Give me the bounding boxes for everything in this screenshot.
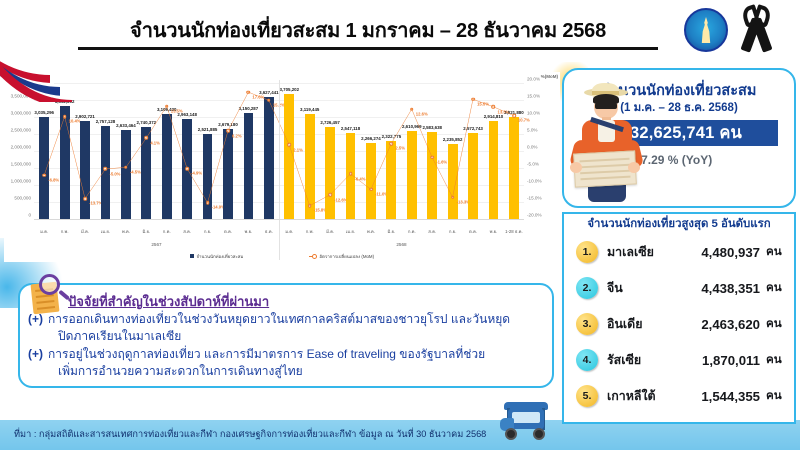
key-factor-text: การออกเดินทางท่องเที่ยวในช่วงวันหยุดยาวใ… [48, 311, 540, 345]
chart-x-tick-label: ก.พ. [299, 228, 319, 238]
top5-unit-label: คน [766, 351, 786, 369]
chart-y-tick-label: 2,500,000 [11, 128, 31, 133]
top5-row: 4.รัสเซีย1,870,011คน [570, 342, 786, 378]
chart-x-tick-label: ก.พ. [54, 228, 74, 238]
chart-x-tick-label: ธ.ค. [259, 228, 279, 238]
top5-country-name: จีน [598, 279, 662, 298]
chart-x-tick-label: มี.ค. [320, 228, 340, 238]
page-header: จำนวนนักท่องเที่ยวสะสม 1 มกราคม – 28 ธัน… [0, 0, 800, 62]
top5-unit-label: คน [766, 315, 786, 333]
key-factor-item: (+)การอยู่ในช่วงฤดูกาลท่องเที่ยว และการม… [28, 346, 540, 380]
top5-row: 2.จีน4,438,351คน [570, 270, 786, 306]
top5-country-name: รัสเซีย [598, 351, 662, 370]
chart-x-tick-label: พ.ค. [116, 228, 136, 238]
chart-x-tick-label: เม.ย. [95, 228, 115, 238]
chart-y-tick-label-right: 10.0% [527, 111, 540, 116]
key-factor-marker: (+) [28, 346, 48, 380]
chart-x-tick-label: ก.ค. [157, 228, 177, 238]
key-factors-title: ปัจจัยที่สำคัญในช่วงสัปดาห์ที่ผ่านมา [68, 291, 269, 312]
legend-swatch-square-icon [190, 254, 195, 259]
chart-y-tick-label: 1,000,000 [11, 179, 31, 184]
chart-x-tick-label: มิ.ย. [136, 228, 156, 238]
top5-title: จำนวนนักท่องเที่ยวสูงสุด 5 อันดับแรก [564, 215, 794, 233]
top5-country-name: เกาหลีใต้ [598, 387, 662, 406]
chart-y-tick-label: 3,000,000 [11, 111, 31, 116]
key-factor-text: การอยู่ในช่วงฤดูกาลท่องเที่ยว และการมีมา… [48, 346, 540, 380]
chart-x-tick-label: ม.ค. [34, 228, 54, 238]
legend-item-arrivals: จำนวนนักท่องเที่ยวสะสม [190, 253, 243, 260]
chart-legend: จำนวนนักท่องเที่ยวสะสม อัตราการเปลี่ยนแป… [4, 250, 560, 262]
chart-y-tick-label: 1,500,000 [11, 162, 31, 167]
page-title: จำนวนนักท่องเที่ยวสะสม 1 มกราคม – 28 ธัน… [78, 14, 658, 46]
top5-row: 1.มาเลเซีย4,480,937คน [570, 234, 786, 270]
top5-country-value: 1,544,355 [662, 389, 766, 404]
chart-x-tick-label: ก.ย. [442, 228, 462, 238]
black-mourning-ribbon-icon [740, 6, 774, 54]
key-factor-marker: (+) [28, 311, 48, 345]
top5-country-value: 1,870,011 [662, 353, 766, 368]
chart-x-tick-label: พ.ค. [361, 228, 381, 238]
chart-x-tick-label: ก.ย. [197, 228, 217, 238]
chart-y-tick-label: 2,000,000 [11, 145, 31, 150]
chart-x-tick-label: พ.ย. [483, 228, 503, 238]
chart-y-tick-label-right: 15.0% [527, 94, 540, 99]
top5-country-value: 2,463,620 [662, 317, 766, 332]
chart-y-tick-label-right: -15.0% [527, 196, 542, 201]
chart-x-tick-label: ต.ค. [218, 228, 238, 238]
chart-x-tick-label: มิ.ย. [381, 228, 401, 238]
chart-y-axis-right-title: %(MoM) [541, 74, 558, 79]
chart-y-tick-label: 0 [28, 213, 31, 218]
top5-country-name: มาเลเซีย [598, 243, 662, 262]
chart-y-tick-label-right: -20.0% [527, 213, 542, 218]
top5-rank-badge: 5. [576, 385, 598, 407]
chart-plot-area: 0500,0001,000,0001,500,0002,000,0002,500… [34, 84, 524, 220]
footer-source-text: ที่มา : กลุ่มสถิติและสารสนเทศการท่องเที่… [14, 427, 486, 442]
chart-x-axis-labels: ม.ค.ก.พ.มี.ค.เม.ย.พ.ค.มิ.ย.ก.ค.ส.ค.ก.ย.ต… [34, 228, 524, 238]
legend-item-mom: อัตราการเปลี่ยนแปลง (MoM) [309, 253, 374, 260]
chart-y-tick-label-right: 0.0% [527, 145, 537, 150]
top5-country-value: 4,480,937 [662, 245, 766, 260]
title-divider [78, 47, 658, 50]
chart-y-tick-label-right: 5.0% [527, 128, 537, 133]
chart-x-tick-label: ส.ค. [422, 228, 442, 238]
chart-x-tick-label: ต.ค. [463, 228, 483, 238]
key-factors-panel: ปัจจัยที่สำคัญในช่วงสัปดาห์ที่ผ่านมา (+)… [18, 283, 554, 388]
chart-y-tick-label-right: -10.0% [527, 179, 542, 184]
legend-label-mom: อัตราการเปลี่ยนแปลง (MoM) [319, 253, 374, 260]
chart-group-label-2568: 2568 [382, 242, 422, 247]
top5-rank-badge: 4. [576, 349, 598, 371]
chart-group-label-2567: 2567 [137, 242, 177, 247]
legend-label-arrivals: จำนวนนักท่องเที่ยวสะสม [196, 253, 243, 260]
chart-x-tick-label: ม.ค. [279, 228, 299, 238]
chart-y-tick-label: 500,000 [14, 196, 31, 201]
tuk-tuk-icon [498, 400, 554, 444]
top5-unit-label: คน [766, 387, 786, 405]
chart-x-tick-label: เม.ย. [340, 228, 360, 238]
chart-y-tick-label-right: -5.0% [527, 162, 539, 167]
chart-y-tick-label-right: 20.0% [527, 77, 540, 82]
top5-rank-badge: 3. [576, 313, 598, 335]
top5-country-name: อินเดีย [598, 315, 662, 334]
top5-country-value: 4,438,351 [662, 281, 766, 296]
tourist-with-map-icon [566, 88, 652, 204]
top5-countries-card: จำนวนนักท่องเที่ยวสูงสุด 5 อันดับแรก 1.ม… [562, 212, 796, 424]
chart-x-tick-label: มี.ค. [75, 228, 95, 238]
top5-row: 3.อินเดีย2,463,620คน [570, 306, 786, 342]
chart-x-tick-label: ก.ค. [402, 228, 422, 238]
key-factor-item: (+)การออกเดินทางท่องเที่ยวในช่วงวันหยุดย… [28, 311, 540, 345]
top5-row: 5.เกาหลีใต้1,544,355คน [570, 378, 786, 414]
top5-unit-label: คน [766, 243, 786, 261]
top5-unit-label: คน [766, 279, 786, 297]
ministry-emblem-icon [684, 8, 728, 52]
chart-x-tick-label: ส.ค. [177, 228, 197, 238]
chart-x-tick-label: 1-28 ธ.ค. [504, 228, 524, 238]
chart-x-tick-label: พ.ย. [238, 228, 258, 238]
legend-swatch-line-circle-icon [309, 256, 317, 257]
top5-rank-badge: 1. [576, 241, 598, 263]
top5-rank-badge: 2. [576, 277, 598, 299]
